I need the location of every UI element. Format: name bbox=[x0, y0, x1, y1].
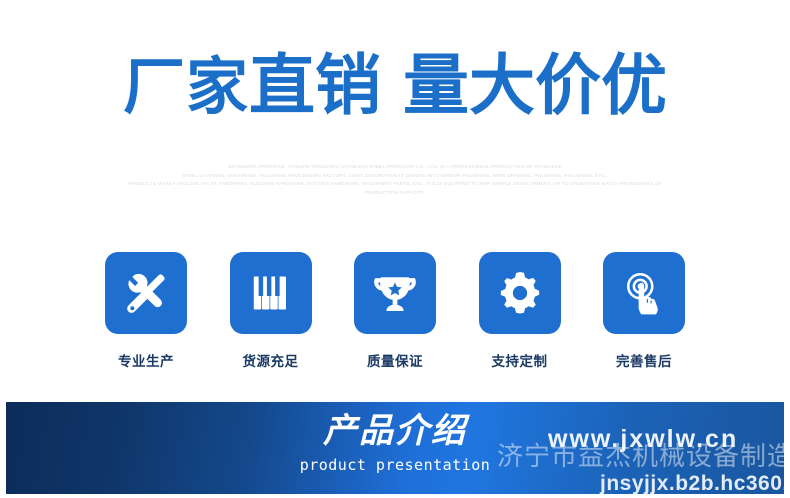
wrench-screwdriver-icon bbox=[121, 268, 171, 318]
blurb-line-4: PRODUCTION CAPACITY. bbox=[95, 189, 695, 198]
feature-tile-1[interactable] bbox=[105, 252, 187, 334]
hand-tap-icon bbox=[620, 269, 668, 317]
blurb-line-3: PRODUCTS MAINLY INCLUDE YACHT HARDWARE, … bbox=[95, 180, 695, 189]
headline-part-1: 厂家 bbox=[123, 57, 249, 119]
feature-row: 专业生产 货源充足 bbox=[105, 252, 685, 370]
feature-item-professional-production[interactable]: 专业生产 bbox=[105, 252, 187, 370]
feature-label-3: 质量保证 bbox=[367, 350, 423, 370]
company-description: SHANDONG PROVINCE, YANGXIN TONGZHOU STAI… bbox=[95, 163, 695, 197]
feature-item-after-sales[interactable]: 完善售后 bbox=[603, 252, 685, 370]
product-intro-banner: 产品介绍 product presentation bbox=[6, 402, 784, 494]
banner-title: 产品介绍 bbox=[6, 411, 784, 451]
headline-part-3: 量大价优 bbox=[403, 52, 667, 118]
banner-subtitle: product presentation bbox=[6, 456, 784, 474]
page-headline: 厂家直销量大价优 bbox=[0, 52, 790, 119]
feature-label-4: 支持定制 bbox=[492, 350, 548, 370]
feature-item-quality-assurance[interactable]: 质量保证 bbox=[354, 252, 436, 370]
piano-keys-icon bbox=[247, 269, 295, 317]
feature-item-customization[interactable]: 支持定制 bbox=[479, 252, 561, 370]
blurb-line-1: SHANDONG PROVINCE, YANGXIN TONGZHOU STAI… bbox=[95, 163, 695, 172]
feature-label-2: 货源充足 bbox=[243, 350, 299, 370]
feature-item-ample-supply[interactable]: 货源充足 bbox=[230, 252, 312, 370]
blurb-line-2: STEEL CASTINGS, MACHINING, POLISHING PRO… bbox=[95, 172, 695, 181]
trophy-star-icon bbox=[370, 268, 420, 318]
feature-label-1: 专业生产 bbox=[118, 350, 174, 370]
feature-label-5: 完善售后 bbox=[616, 350, 672, 370]
feature-tile-3[interactable] bbox=[354, 252, 436, 334]
feature-tile-2[interactable] bbox=[230, 252, 312, 334]
gear-icon bbox=[496, 269, 544, 317]
headline-part-2: 直销 bbox=[249, 52, 381, 118]
feature-tile-4[interactable] bbox=[479, 252, 561, 334]
feature-tile-5[interactable] bbox=[603, 252, 685, 334]
